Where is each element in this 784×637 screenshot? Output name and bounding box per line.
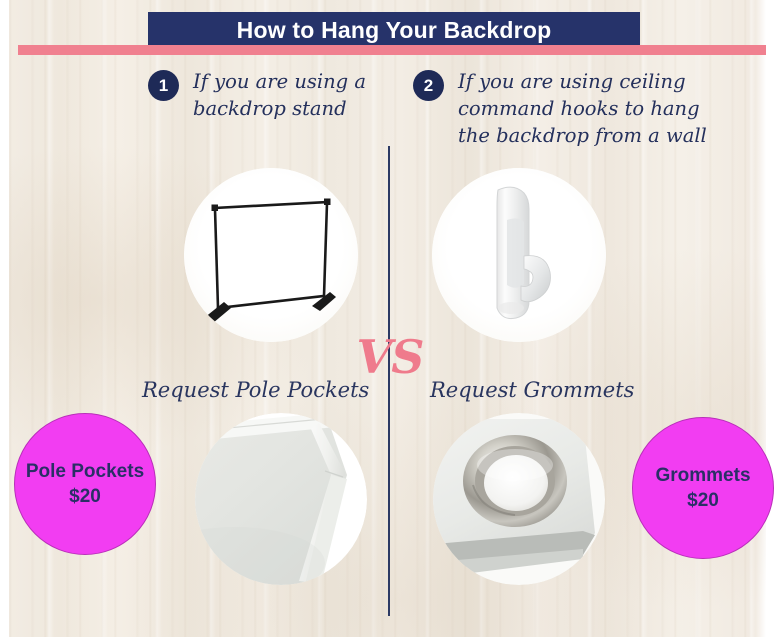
step-1-text: If you are using a backdrop stand [193,68,388,122]
infographic-canvas: How to Hang Your Backdrop 1 If you are u… [0,0,784,637]
grommet-fabric-photo [433,413,605,585]
grommet-fabric-icon [433,413,605,585]
badge-pole-pockets-name: Pole Pockets [26,459,144,484]
step-1-number-badge: 1 [148,70,179,101]
pink-divider-rule [18,45,766,55]
left-margin [0,0,9,637]
badge-pole-pockets-text: Pole Pockets $20 [26,459,144,509]
caption-grommets: Request Grommets [430,378,634,402]
caption-pole-pockets: Request Pole Pockets [142,378,369,402]
badge-grommets-price: $20 [655,488,750,513]
step-2-number-badge: 2 [413,70,444,101]
badge-pole-pockets-price: $20 [26,484,144,509]
command-hook-icon [432,168,606,342]
command-hook-photo [432,168,606,342]
title-banner: How to Hang Your Backdrop [148,12,640,49]
backdrop-stand-icon [184,168,358,342]
backdrop-stand-photo [184,168,358,342]
badge-grommets-name: Grommets [655,463,750,488]
page-title: How to Hang Your Backdrop [237,17,552,44]
badge-grommets[interactable]: Grommets $20 [632,417,774,559]
badge-grommets-text: Grommets $20 [655,463,750,513]
step-2-text: If you are using ceiling command hooks t… [458,68,723,149]
step-1-block: 1 If you are using a backdrop stand [148,68,388,122]
pole-pocket-fabric-icon [195,413,367,585]
right-margin [766,0,784,637]
pole-pocket-fabric-photo [195,413,367,585]
badge-pole-pockets[interactable]: Pole Pockets $20 [14,413,156,555]
step-2-block: 2 If you are using ceiling command hooks… [413,68,723,149]
versus-label: VS [352,330,428,384]
